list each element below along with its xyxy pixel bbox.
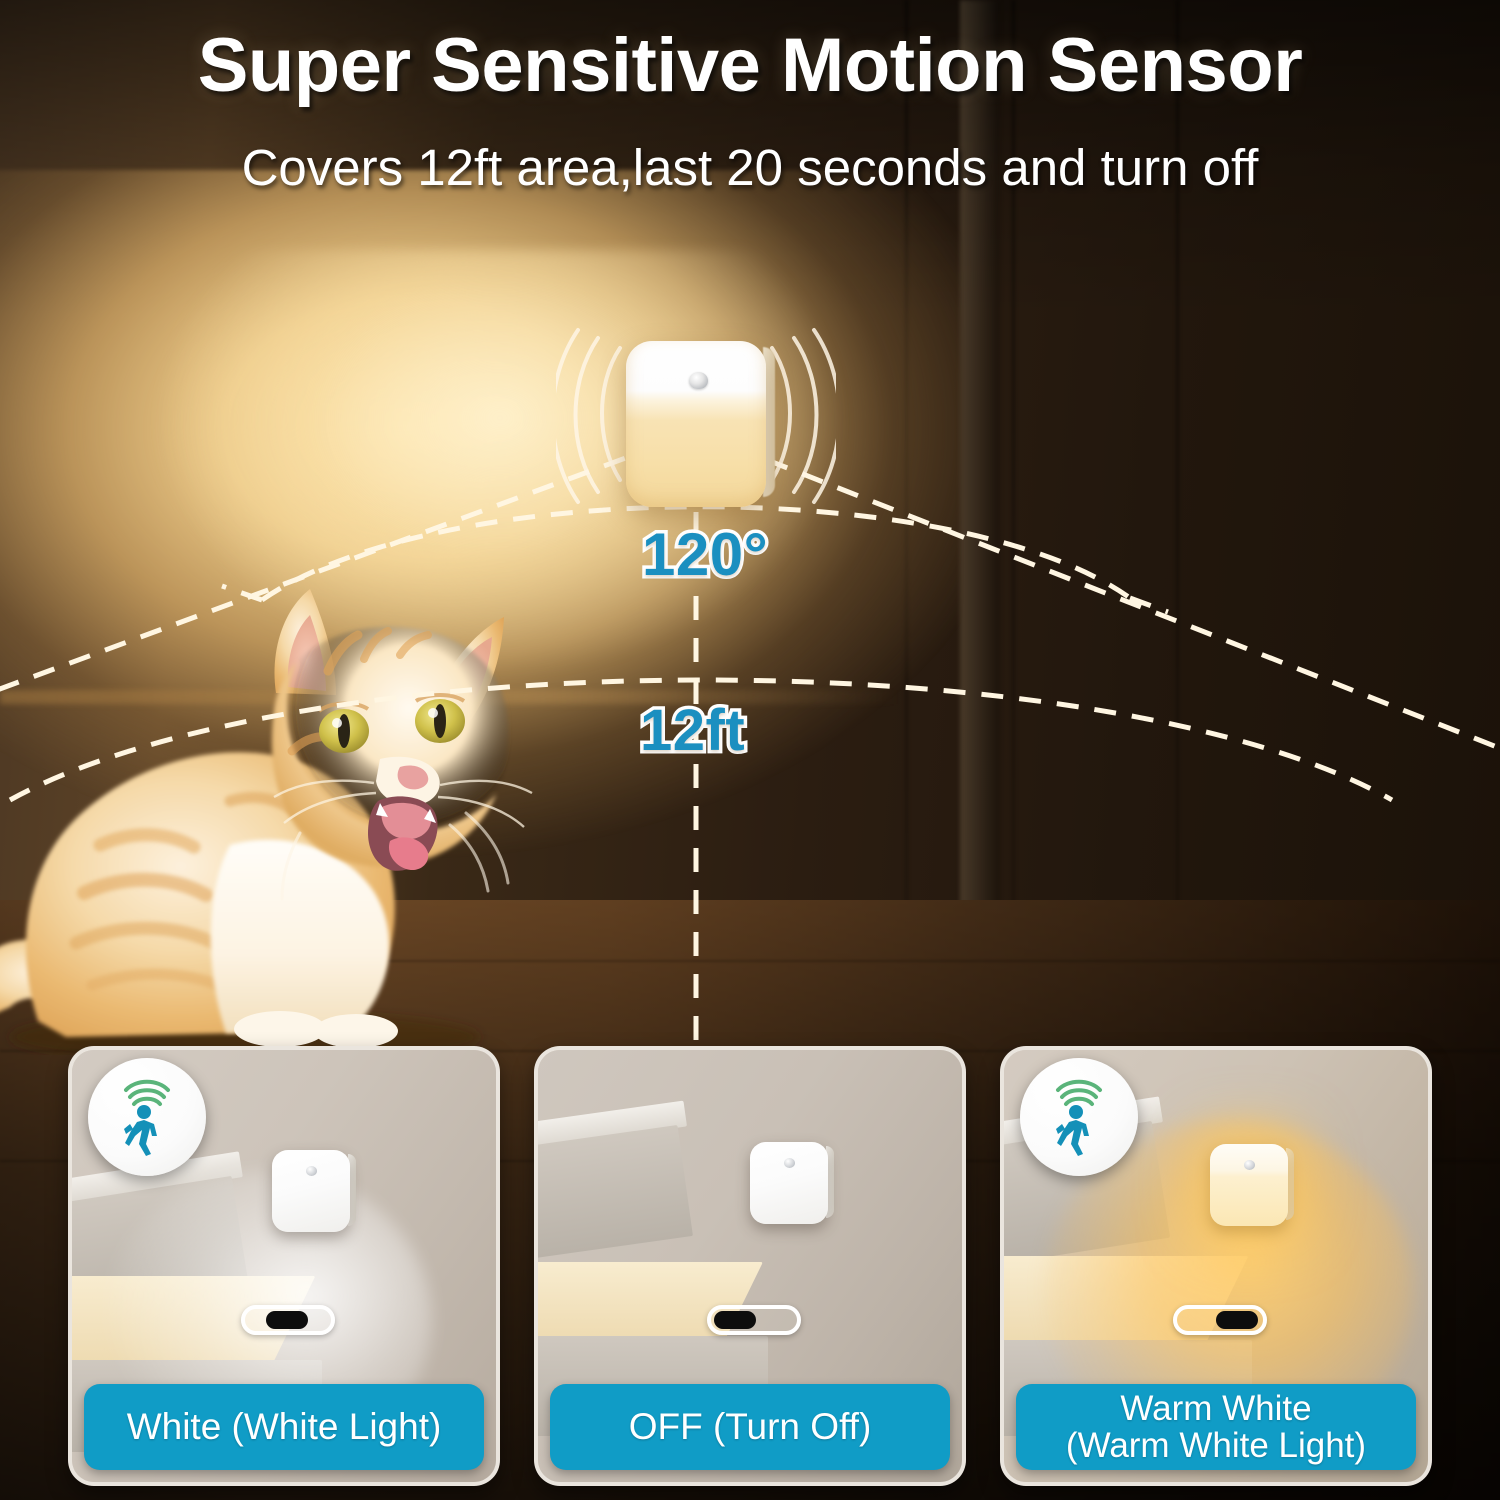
mode-label-off: OFF (Turn Off)	[550, 1384, 950, 1470]
mini-night-light	[1210, 1144, 1288, 1226]
page-subtitle: Covers 12ft area,last 20 seconds and tur…	[0, 138, 1500, 197]
switch-knob[interactable]	[266, 1311, 308, 1329]
mini-night-light	[750, 1142, 828, 1224]
pir-sensor-lens	[689, 372, 708, 389]
mode-card-white[interactable]: White (White Light)	[68, 1046, 500, 1486]
mode-label-line: (Warm White Light)	[1058, 1426, 1374, 1465]
distance-label: 12ft	[640, 697, 745, 764]
cat-illustration	[0, 545, 560, 1055]
mode-label-line: Warm White	[1112, 1389, 1319, 1428]
header-banner: Super Sensitive Motion Sensor Covers 12f…	[0, 0, 1500, 240]
motion-badge	[88, 1058, 206, 1176]
light-mode-switch[interactable]	[1173, 1305, 1267, 1335]
infographic-root: 120° 12ft Super Sensitive Motion Sensor …	[0, 0, 1500, 1500]
motion-badge	[1020, 1058, 1138, 1176]
mode-card-off[interactable]: OFF (Turn Off)	[534, 1046, 966, 1486]
switch-knob[interactable]	[1216, 1311, 1258, 1329]
light-mode-switch[interactable]	[241, 1305, 335, 1335]
angle-label: 120°	[642, 520, 768, 589]
page-title: Super Sensitive Motion Sensor	[0, 22, 1500, 109]
motion-walking-icon	[1036, 1074, 1122, 1160]
mode-label-text: Warm White(Warm White Light)	[1050, 1390, 1382, 1464]
mode-label-white: White (White Light)	[84, 1384, 484, 1470]
mode-label-text: OFF (Turn Off)	[621, 1407, 880, 1446]
light-mode-switch[interactable]	[707, 1305, 801, 1335]
mini-night-light	[272, 1150, 350, 1232]
motion-walking-icon	[104, 1074, 190, 1160]
motion-sensor-night-light	[626, 341, 766, 507]
mode-label-warm-white: Warm White(Warm White Light)	[1016, 1384, 1416, 1470]
switch-knob[interactable]	[714, 1311, 756, 1329]
device-body	[626, 341, 766, 507]
mode-card-warm-white[interactable]: Warm White(Warm White Light)	[1000, 1046, 1432, 1486]
mode-label-text: White (White Light)	[119, 1407, 450, 1446]
mode-panel-row: White (White Light) OFF (Turn Off)	[0, 1046, 1500, 1500]
